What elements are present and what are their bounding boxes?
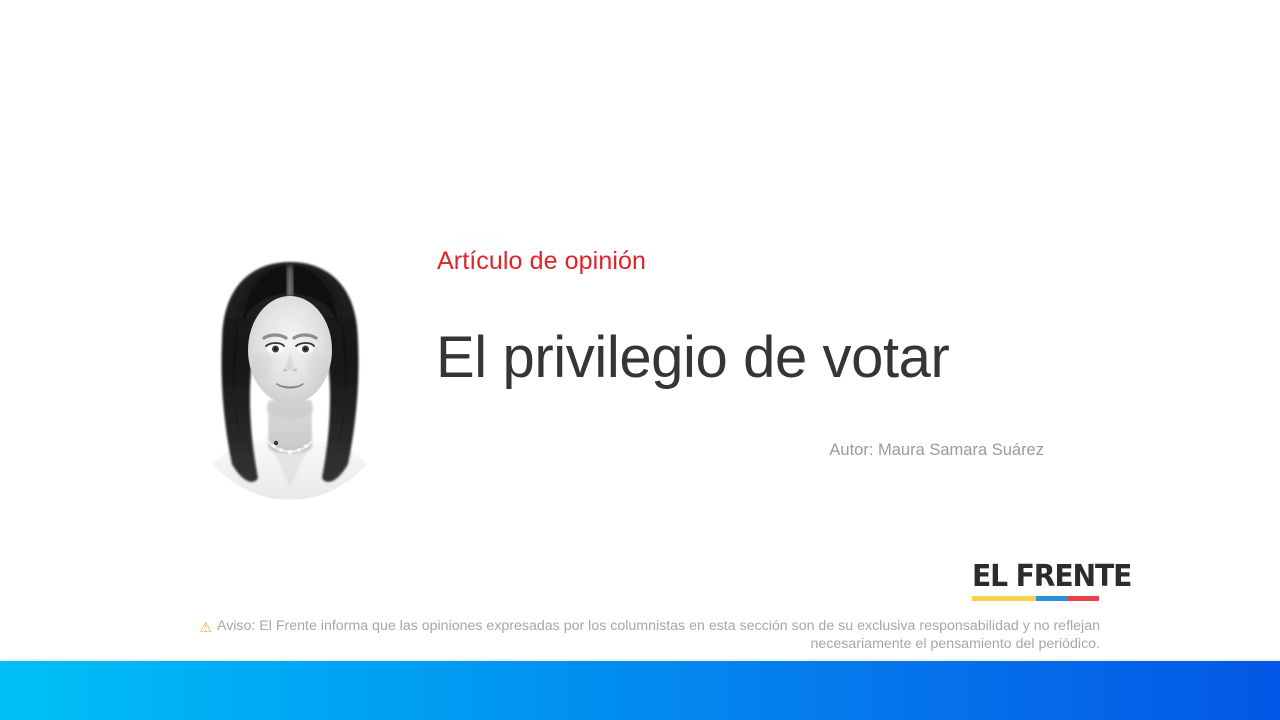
- el-frente-logo: EL FRENTE: [972, 562, 1102, 601]
- bottom-gradient-bar: [0, 661, 1280, 720]
- flag-stripe-yellow: [972, 596, 1036, 601]
- disclaimer-notice: ⚠Aviso: El Frente informa que las opinio…: [188, 617, 1100, 653]
- portrait-photo-image: [180, 250, 400, 500]
- logo-wordmark: EL FRENTE: [972, 562, 1094, 592]
- disclaimer-text: Aviso: El Frente informa que las opinion…: [217, 618, 1100, 652]
- opinion-article-slide: Artículo de opinión El privilegio de vot…: [0, 0, 1280, 720]
- flag-stripe-red: [1067, 596, 1099, 601]
- colombian-flag-bar: [972, 596, 1099, 601]
- author-portrait: [180, 250, 400, 500]
- faint-artifact: [456, 232, 502, 244]
- page-title: El privilegio de votar: [436, 326, 949, 391]
- author-byline: Autor: Maura Samara Suárez: [436, 440, 1044, 461]
- warning-triangle-icon: ⚠: [199, 620, 212, 634]
- article-kicker: Artículo de opinión: [437, 248, 646, 276]
- flag-stripe-blue: [1036, 596, 1068, 601]
